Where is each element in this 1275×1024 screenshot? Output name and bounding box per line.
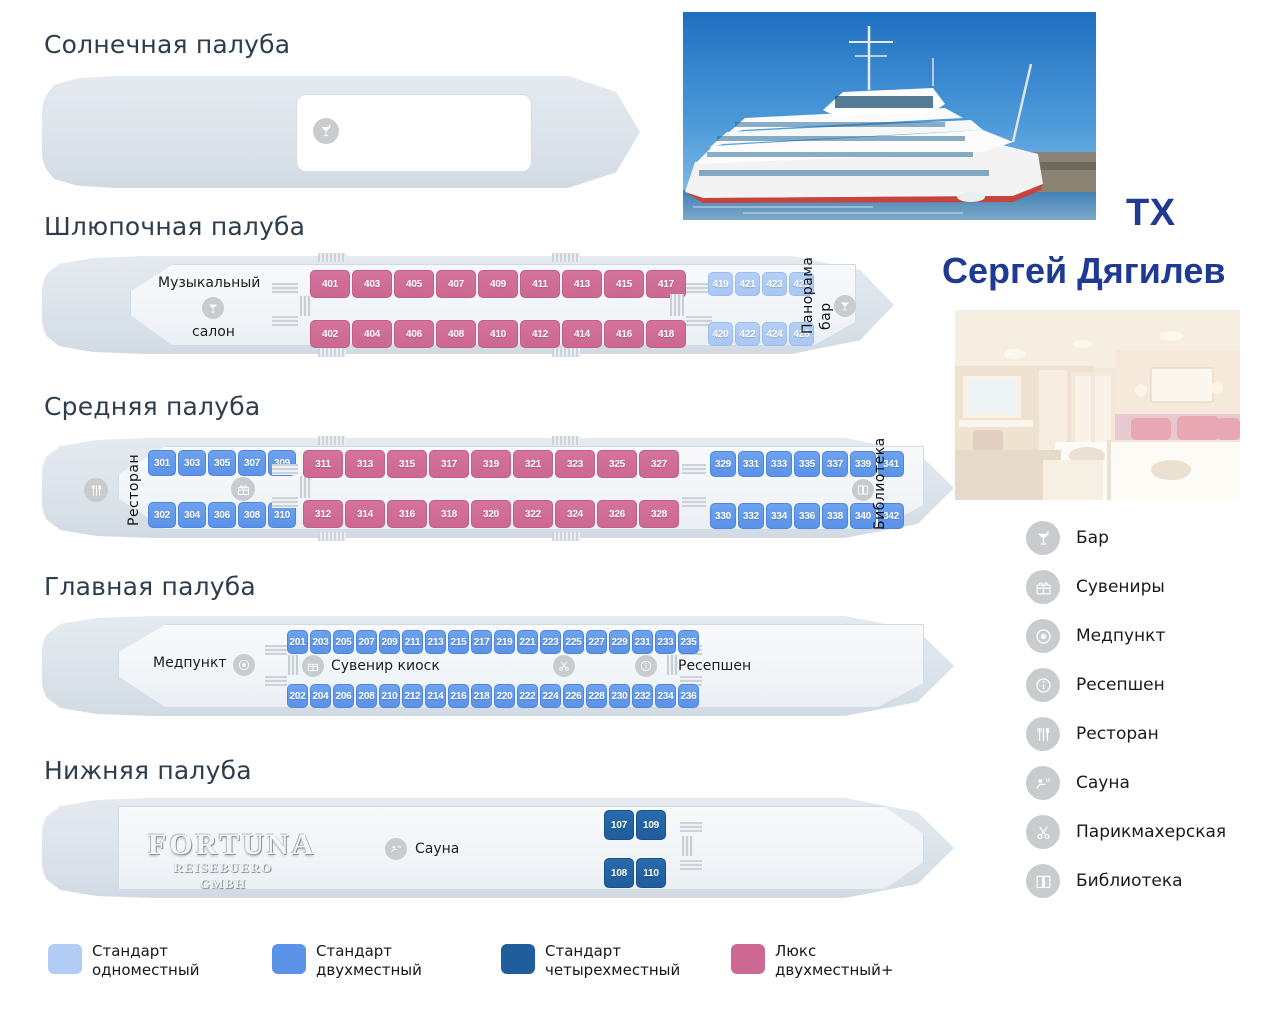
cabin-230[interactable]: 230 [609,684,630,708]
vent-icon [552,532,580,541]
cabin-233[interactable]: 233 [655,630,676,654]
cabin-324[interactable]: 324 [555,500,595,528]
cabin-332[interactable]: 332 [738,503,764,529]
cabin-234[interactable]: 234 [655,684,676,708]
cabin-211[interactable]: 211 [402,630,423,654]
facility-legend-item-info: Ресепшен [1026,668,1165,702]
cabin-338[interactable]: 338 [822,503,848,529]
book-icon [852,479,874,501]
cabin-208[interactable]: 208 [356,684,377,708]
reception-label: Ресепшен [678,658,751,674]
vent-icon [318,348,346,357]
cabin-legend-swatch-1 [272,944,306,974]
deck-title-sun: Солнечная палуба [44,30,290,59]
cabin-336[interactable]: 336 [794,503,820,529]
stair-icon [265,676,287,686]
stair-icon [682,464,706,475]
cabin-207[interactable]: 207 [356,630,377,654]
cabin-321[interactable]: 321 [513,450,553,478]
stair-icon [272,497,298,508]
cabin-337[interactable]: 337 [822,451,848,477]
cabin-406[interactable]: 406 [394,320,434,348]
cabin-416[interactable]: 416 [604,320,644,348]
facility-legend-label: Ресепшен [1076,675,1165,695]
cabin-421[interactable]: 421 [735,272,760,296]
cabin-307[interactable]: 307 [238,450,266,476]
cabin-legend-swatch-2 [501,944,535,974]
facility-legend-item-book: Библиотека [1026,864,1183,898]
medical-icon [233,654,255,676]
facility-legend-label: Бар [1076,528,1109,548]
cabin-303[interactable]: 303 [178,450,206,476]
facility-legend-label: Медпункт [1076,626,1165,646]
bar-icon [1026,521,1060,555]
cabin-215[interactable]: 215 [448,630,469,654]
cabin-218[interactable]: 218 [471,684,492,708]
cabin-legend-swatch-3 [731,944,765,974]
gift-icon [231,477,255,501]
cabin-403[interactable]: 403 [352,270,392,298]
cabin-419[interactable]: 419 [708,272,733,296]
cabin-236[interactable]: 236 [678,684,699,708]
cabin-228[interactable]: 228 [586,684,607,708]
cabin-424[interactable]: 424 [762,322,787,346]
cabin-315[interactable]: 315 [387,450,427,478]
cabin-216[interactable]: 216 [448,684,469,708]
cabin-328[interactable]: 328 [639,500,679,528]
stair-icon [272,464,298,475]
sauna-icon [1026,766,1060,800]
corridor-icon [667,655,678,675]
cabin-405[interactable]: 405 [394,270,434,298]
souvenir-label: Сувенир киоск [331,658,440,674]
cabin-legend-swatch-0 [48,944,82,974]
facility-legend-item-bar: Бар [1026,521,1109,555]
cabin-335[interactable]: 335 [794,451,820,477]
cabin-331[interactable]: 331 [738,451,764,477]
ship-name: Сергей Дягилев [942,250,1225,292]
cabin-415[interactable]: 415 [604,270,644,298]
cabin-401[interactable]: 401 [310,270,350,298]
stair-icon [680,822,702,832]
cabin-213[interactable]: 213 [425,630,446,654]
cabin-109[interactable]: 109 [636,810,666,840]
cabin-108[interactable]: 108 [604,858,634,888]
stair-icon [265,645,287,655]
deck-title-boat: Шлюпочная палуба [44,212,305,241]
stair-icon [680,860,702,870]
cabin-224[interactable]: 224 [540,684,561,708]
cabin-317[interactable]: 317 [429,450,469,478]
cabin-210[interactable]: 210 [379,684,400,708]
sauna-icon [385,838,407,860]
boat-salon-label-bottom: салон [192,324,235,340]
cabin-227[interactable]: 227 [586,630,607,654]
stair-icon [272,316,298,327]
cabin-423[interactable]: 423 [762,272,787,296]
cabin-418[interactable]: 418 [646,320,686,348]
cabin-313[interactable]: 313 [345,450,385,478]
cabin-110[interactable]: 110 [636,858,666,888]
cabin-legend-label-2: Стандарт четырехместный [545,942,680,980]
cabin-305[interactable]: 305 [208,450,236,476]
cabin-107[interactable]: 107 [604,810,634,840]
restaurant-icon [1026,717,1060,751]
fortuna-line1: FORTUNA [148,828,298,862]
cabin-404[interactable]: 404 [352,320,392,348]
vent-icon [318,532,346,541]
cabin-202[interactable]: 202 [287,684,308,708]
deck-title-main: Главная палуба [44,572,256,601]
cabin-212[interactable]: 212 [402,684,423,708]
vent-icon [552,253,580,262]
cabin-201[interactable]: 201 [287,630,308,654]
cabin-318[interactable]: 318 [429,500,469,528]
panorama-bar-label: бар [818,286,834,330]
cabin-333[interactable]: 333 [766,451,792,477]
cabin-legend-label-0: Стандарт одноместный [92,942,199,980]
cabin-legend-label-1: Стандарт двухместный [316,942,422,980]
facility-legend-label: Библиотека [1076,871,1183,891]
cabin-232[interactable]: 232 [632,684,653,708]
gift-icon [302,655,324,677]
corridor-icon [300,476,312,498]
facility-legend-label: Ресторан [1076,724,1159,744]
facility-legend-item-sauna: Сауна [1026,766,1130,800]
facility-legend-label: Сувениры [1076,577,1165,597]
cabin-422[interactable]: 422 [735,322,760,346]
cabin-204[interactable]: 204 [310,684,331,708]
corridor-icon [682,836,694,856]
facility-legend-item-restaurant: Ресторан [1026,717,1159,751]
deck-title-lower: Нижняя палуба [44,756,252,785]
facility-legend-item-medical: Медпункт [1026,619,1165,653]
medical-icon [1026,619,1060,653]
cabin-323[interactable]: 323 [555,450,595,478]
restaurant-icon [84,478,108,502]
cabin-231[interactable]: 231 [632,630,653,654]
cabin-interior-photo [955,310,1240,500]
cabin-306[interactable]: 306 [208,502,236,528]
cabin-319[interactable]: 319 [471,450,511,478]
cabin-304[interactable]: 304 [178,502,206,528]
sauna-label: Сауна [415,841,459,857]
cabin-408[interactable]: 408 [436,320,476,348]
cabin-221[interactable]: 221 [517,630,538,654]
cabin-420[interactable]: 420 [708,322,733,346]
cabin-412[interactable]: 412 [520,320,560,348]
vent-icon [552,436,580,445]
scissors-icon [1026,815,1060,849]
cabin-235[interactable]: 235 [678,630,699,654]
cabin-222[interactable]: 222 [517,684,538,708]
cabin-402[interactable]: 402 [310,320,350,348]
boat-salon-label-top: Музыкальный [158,275,260,291]
facility-legend-label: Сауна [1076,773,1130,793]
bar-icon [313,118,339,144]
facility-legend-label: Парикмахерская [1076,822,1226,842]
cabin-409[interactable]: 409 [478,270,518,298]
gift-icon [1026,570,1060,604]
cabin-325[interactable]: 325 [597,450,637,478]
cabin-327[interactable]: 327 [639,450,679,478]
cabin-206[interactable]: 206 [333,684,354,708]
bar-icon [202,297,224,319]
cabin-229[interactable]: 229 [609,630,630,654]
cabin-209[interactable]: 209 [379,630,400,654]
cabin-311[interactable]: 311 [303,450,343,478]
info-icon [1026,668,1060,702]
cabin-329[interactable]: 329 [710,451,736,477]
cabin-legend-label-3: Люкс двухместный+ [775,942,893,980]
cabin-322[interactable]: 322 [513,500,553,528]
ship-prefix: ТХ [1126,192,1176,235]
cabin-302[interactable]: 302 [148,502,176,528]
library-label: Библиотека [872,448,888,530]
panorama-label: Панорама [800,268,816,334]
cabin-320[interactable]: 320 [471,500,511,528]
stair-icon [272,283,298,294]
cabin-411[interactable]: 411 [520,270,560,298]
bar-icon [834,295,856,317]
stair-icon [682,497,706,508]
info-icon [635,655,657,677]
cabin-214[interactable]: 214 [425,684,446,708]
cabin-414[interactable]: 414 [562,320,602,348]
cabin-334[interactable]: 334 [766,503,792,529]
vent-icon [552,348,580,357]
restaurant-label: Ресторан [126,450,142,526]
cabin-312[interactable]: 312 [303,500,343,528]
cabin-203[interactable]: 203 [310,630,331,654]
cabin-205[interactable]: 205 [333,630,354,654]
ship-photo [683,12,1096,220]
cabin-314[interactable]: 314 [345,500,385,528]
cabin-407[interactable]: 407 [436,270,476,298]
cabin-413[interactable]: 413 [562,270,602,298]
scissors-icon [553,655,575,677]
fortuna-line2: REISEBUERO GMBH [148,860,298,892]
facility-legend-item-gift: Сувениры [1026,570,1165,604]
vent-icon [318,436,346,445]
cabin-223[interactable]: 223 [540,630,561,654]
vent-icon [318,253,346,262]
cabin-316[interactable]: 316 [387,500,427,528]
cabin-219[interactable]: 219 [494,630,515,654]
corridor-icon [300,296,312,316]
cabin-330[interactable]: 330 [710,503,736,529]
cabin-308[interactable]: 308 [238,502,266,528]
cabin-326[interactable]: 326 [597,500,637,528]
medpunkt-label: Медпункт [153,655,227,671]
fortuna-watermark: FORTUNA REISEBUERO GMBH [148,828,298,892]
cabin-225[interactable]: 225 [563,630,584,654]
corridor-icon [288,655,299,675]
book-icon [1026,864,1060,898]
facility-legend-item-scissors: Парикмахерская [1026,815,1226,849]
cabin-410[interactable]: 410 [478,320,518,348]
cabin-220[interactable]: 220 [494,684,515,708]
cabin-226[interactable]: 226 [563,684,584,708]
cabin-217[interactable]: 217 [471,630,492,654]
cabin-301[interactable]: 301 [148,450,176,476]
deck-title-middle: Средняя палуба [44,392,260,421]
corridor-icon [670,294,684,316]
